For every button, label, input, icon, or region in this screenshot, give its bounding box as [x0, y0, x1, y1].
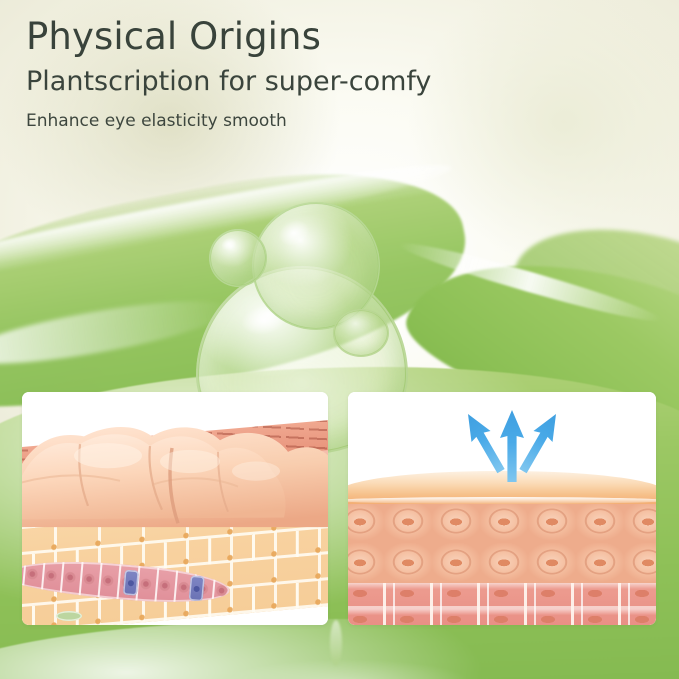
wrinkled-skin-illustration: [22, 392, 328, 625]
green-gel-pool-lip: [172, 650, 522, 679]
melanocyte-cell: [123, 570, 139, 596]
smooth-skin-illustration: [348, 392, 656, 625]
epidermis-highlight: [160, 450, 220, 473]
page-tagline: Enhance eye elasticity smooth: [26, 113, 626, 130]
epidermis-highlight: [232, 461, 280, 480]
product-banner: Physical Origins Plantscription for supe…: [0, 0, 679, 679]
gel-droplet-stem: [330, 620, 342, 666]
melanocyte-cell: [188, 576, 204, 602]
page-subtitle: Plantscription for super-comfy: [26, 68, 626, 95]
capillary-detail: [56, 611, 82, 621]
lift-arrows-group: [348, 392, 656, 625]
lift-arrow-left: [458, 409, 510, 477]
lift-arrow-right: [513, 409, 565, 477]
inner-ring-bubble: [333, 309, 389, 357]
small-side-bubble: [209, 229, 267, 287]
lift-arrow-center: [500, 410, 524, 482]
header-text-block: Physical Origins Plantscription for supe…: [26, 18, 626, 130]
page-title: Physical Origins: [26, 18, 626, 55]
panel-wrinkled-skin: [22, 392, 328, 625]
epidermis-highlight: [74, 443, 142, 468]
panel-smooth-skin: [348, 392, 656, 625]
epidermis-puff-group: [22, 392, 328, 527]
